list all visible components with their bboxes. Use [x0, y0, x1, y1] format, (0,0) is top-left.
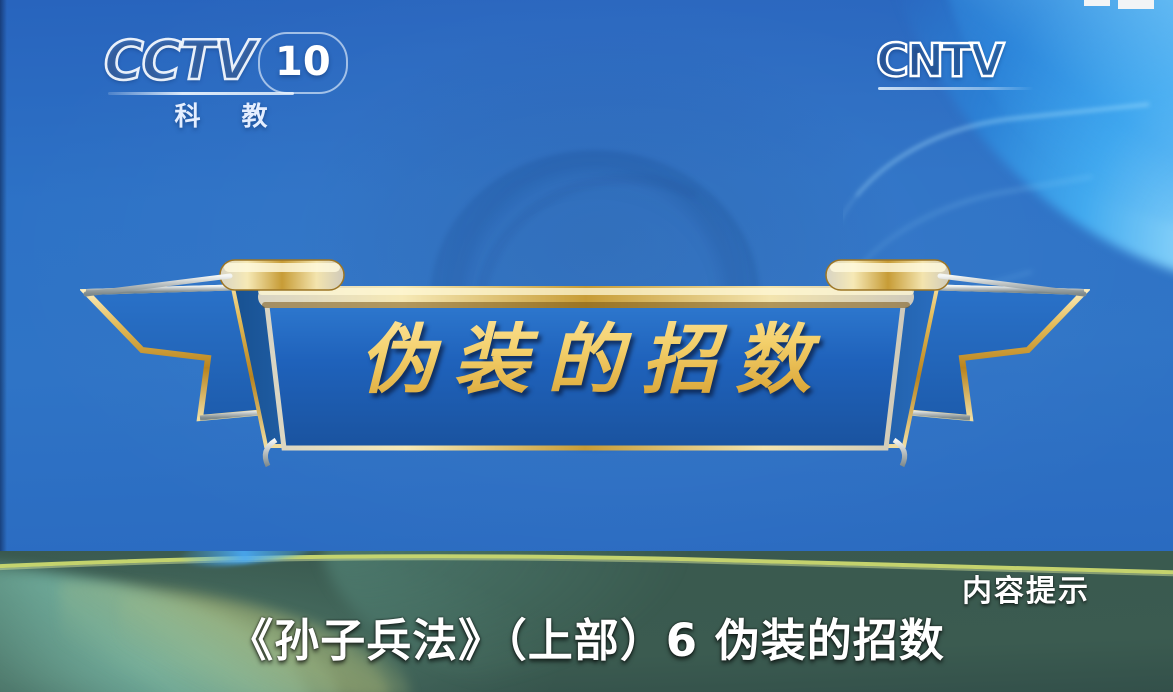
top-marker-tick-1: [1084, 0, 1110, 6]
top-marker-tick-2: [1118, 0, 1154, 9]
program-episode-line: 《孙子兵法》（上部）6 伪装的招数: [0, 604, 1173, 669]
cctv-subtitle: 科 教: [146, 96, 296, 133]
left-edge-vignette: [0, 0, 7, 566]
title-ribbon-banner: 伪装的招数: [80, 250, 1090, 480]
cctv-channel-number: 10: [275, 40, 331, 84]
cntv-underline-icon: [878, 87, 1034, 90]
cctv-underline-icon: [108, 92, 294, 95]
broadcast-title-card: CCTV 10 科 教 CNTV: [0, 0, 1173, 692]
cntv-logo: CNTV: [876, 38, 1046, 98]
cntv-wordmark: CNTV: [876, 38, 1002, 84]
cctv10-logo: CCTV 10 科 教: [104, 34, 344, 118]
cctv-wordmark: CCTV: [104, 34, 254, 88]
program-title: 伪装的招数: [80, 312, 1090, 408]
